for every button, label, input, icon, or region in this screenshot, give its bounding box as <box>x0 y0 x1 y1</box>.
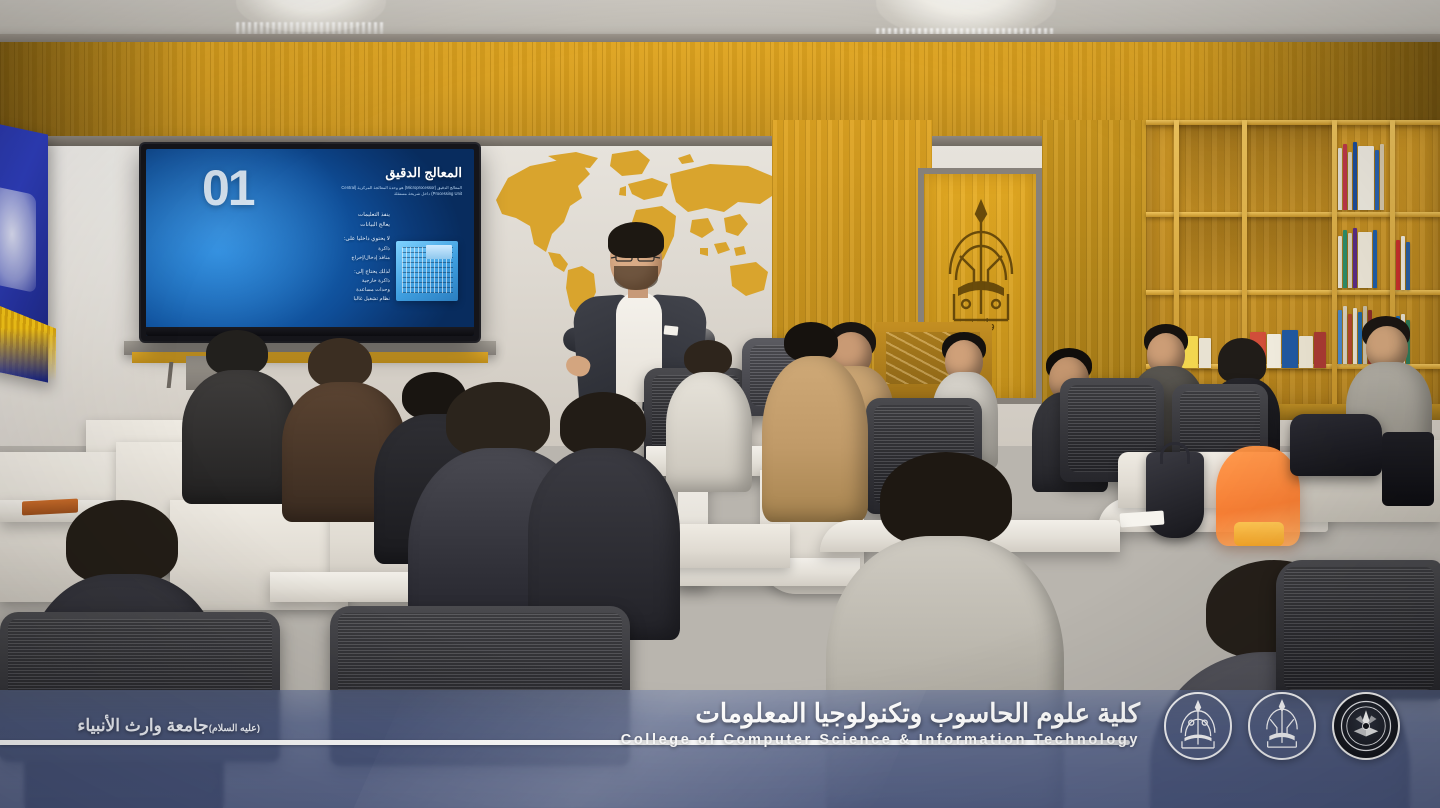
slide-canvas: 01 المعالج الدقيق المعالج الدقيق (Microp… <box>146 149 474 336</box>
bullet-group-2: لا يحتوي داخليا على: ذاكرة منافذ إدخال/إ… <box>280 235 390 262</box>
college-seal-icon <box>1255 699 1309 753</box>
flag-emblem-icon <box>0 185 36 293</box>
university-seal-logo <box>1164 692 1232 760</box>
lecturer-hair <box>608 222 664 258</box>
ceremonial-flag <box>0 128 56 408</box>
bullet: منافذ إدخال/إخراج <box>280 254 390 263</box>
bullet: وحدات مساعدة <box>280 286 390 295</box>
bag <box>1382 432 1434 506</box>
bullet-group-3: لذلك يحتاج إلى: ذاكرة خارجية وحدات مساعد… <box>280 268 390 304</box>
presentation-display[interactable]: 01 المعالج الدقيق المعالج الدقيق (Microp… <box>141 144 479 341</box>
slide-number: 01 <box>202 163 254 213</box>
lecturer-beard <box>614 266 658 290</box>
slide-bullet-list: ينفذ التعليمات يعالج البيانات لا يحتوي د… <box>280 211 390 309</box>
university-seal-icon <box>1171 699 1225 753</box>
book-row <box>1396 232 1410 290</box>
pencil-case <box>22 499 78 516</box>
chandelier-icon <box>876 0 1056 38</box>
slide-title: المعالج الدقيق <box>385 165 462 181</box>
bullet: ذاكرة خارجية <box>280 277 390 286</box>
display-bezel <box>146 327 474 336</box>
office-chair <box>1276 560 1440 700</box>
screenshot-root: وارث <box>0 0 1440 808</box>
pocket-square <box>664 325 679 335</box>
university-honorific: (عليه السلام) <box>209 723 260 734</box>
university-emblem-icon: وارث <box>940 196 1022 336</box>
ministry-seal-icon <box>1338 698 1394 754</box>
bullet-head: لا يحتوي داخليا على: <box>280 235 390 245</box>
book-row <box>1338 140 1384 210</box>
backpack <box>1290 414 1382 476</box>
ministry-higher-education-logo <box>1332 692 1400 760</box>
bullet: يعالج البيانات <box>280 221 390 231</box>
college-seal-logo <box>1248 692 1316 760</box>
university-name-text: جامعة وارث الأنبياء <box>77 716 208 735</box>
chandelier-icon <box>236 0 386 32</box>
college-name-arabic: كلية علوم الحاسوب وتكنولوجيا المعلومات <box>520 698 1140 729</box>
bullet: ذاكرة <box>280 245 390 254</box>
microprocessor-image <box>396 241 458 301</box>
bullet: ينفذ التعليمات <box>280 211 390 221</box>
bullet: نظام تشغيل غالبا <box>280 295 390 304</box>
handbag-handle <box>1160 442 1190 464</box>
bullet-group-1: ينفذ التعليمات يعالج البيانات <box>280 211 390 230</box>
bullet-head: لذلك يحتاج إلى: <box>280 268 390 278</box>
university-name-arabic: (عليه السلام)جامعة وارث الأنبياء <box>10 716 260 736</box>
juice-bottles <box>1234 522 1284 546</box>
college-name-english: College of Computer Science & Informatio… <box>520 732 1140 748</box>
book-row <box>1338 224 1377 288</box>
slide-subtitle: المعالج الدقيق (Microprocessor) هو وحدة … <box>322 185 462 198</box>
